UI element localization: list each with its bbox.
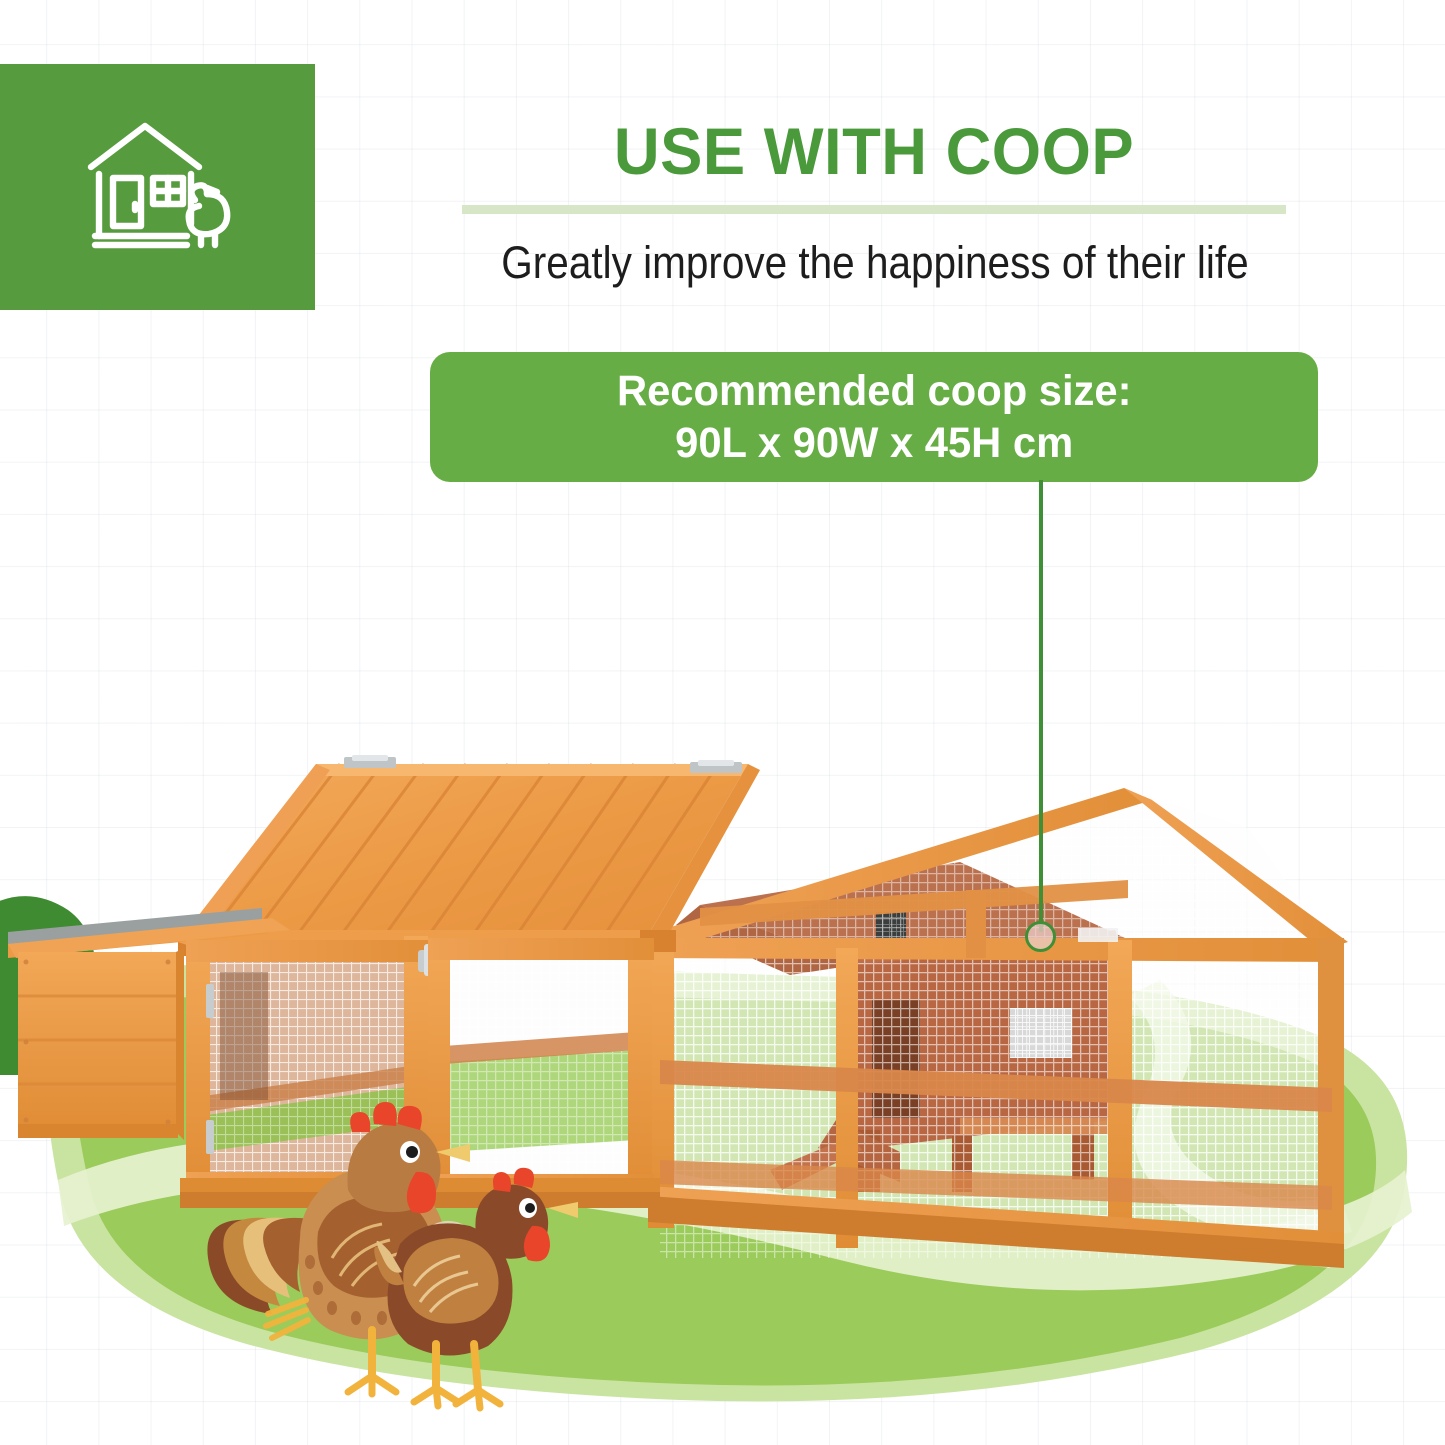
callout-leader-line [1039,480,1043,932]
title-divider [462,205,1286,214]
callout-leader-endpoint [1025,921,1056,952]
feature-badge [0,64,315,310]
callout-line-1: Recommended coop size: [617,365,1132,417]
a-frame-mesh-run [648,788,1348,1268]
page-subtitle: Greatly improve the happiness of their l… [448,235,1303,291]
callout-line-2: 90L x 90W x 45H cm [675,417,1073,469]
recommended-size-callout: Recommended coop size: 90L x 90W x 45H c… [430,352,1318,482]
coop-house-with-chicken-icon [82,112,234,262]
page-title: USE WITH COOP [478,118,1269,184]
product-illustration [8,755,1348,1268]
